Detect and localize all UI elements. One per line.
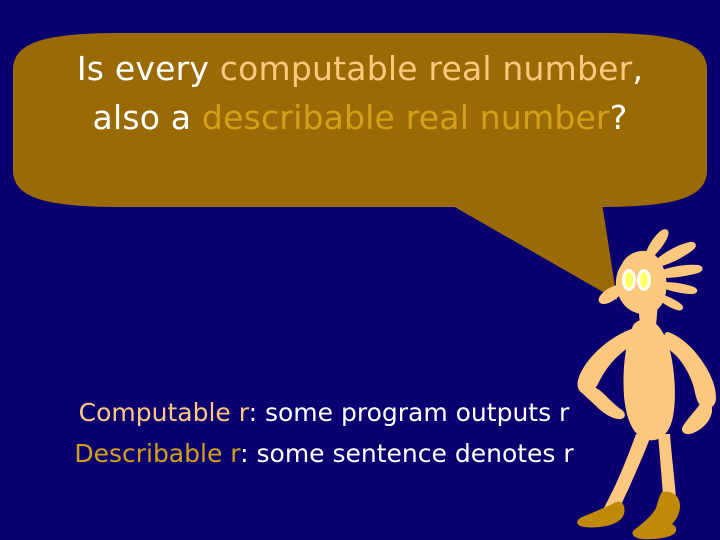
cartoon-speaker-drawing — [576, 228, 720, 540]
question-line-2-suffix: ? — [610, 98, 628, 137]
definition-computable: Computable r: some program outputs r — [16, 392, 632, 433]
definition-computable-term: Computable — [79, 398, 231, 427]
figure-right-eye — [640, 272, 648, 288]
definition-computable-body: some program outputs r — [265, 398, 569, 427]
figure-left-shoe — [577, 502, 624, 528]
definition-list: Computable r: some program outputs r Des… — [16, 392, 632, 474]
definition-computable-variable: r — [231, 398, 249, 427]
question-line-1-prefix: Is every — [77, 49, 220, 88]
definition-describable-term: Describable — [74, 439, 222, 468]
question-line-2-highlight: describable real number — [202, 98, 610, 137]
definition-computable-separator: : — [249, 398, 265, 427]
slide-canvas: Is every computable real number, also a … — [0, 0, 720, 540]
definition-describable-separator: : — [240, 439, 256, 468]
figure-left-leg — [603, 434, 650, 516]
definition-describable-variable: r — [222, 439, 240, 468]
figure-left-eye — [625, 272, 633, 288]
figure-left-hand — [580, 385, 625, 419]
definition-describable: Describable r: some sentence denotes r — [16, 433, 632, 474]
question-line-1: Is every computable real number, — [18, 44, 702, 93]
question-line-2: also a describable real number? — [18, 93, 702, 142]
figure-snout — [599, 284, 623, 304]
question-line-2-prefix: also a — [93, 98, 202, 137]
question-line-1-suffix: , — [632, 49, 643, 88]
cartoon-speaker-figure — [576, 228, 720, 540]
definition-describable-body: some sentence denotes r — [257, 439, 574, 468]
figure-right-hand — [682, 400, 712, 434]
question-line-1-highlight: computable real number — [220, 49, 633, 88]
balloon-question-text: Is every computable real number, also a … — [18, 44, 702, 142]
figure-right-shoe — [632, 492, 680, 540]
